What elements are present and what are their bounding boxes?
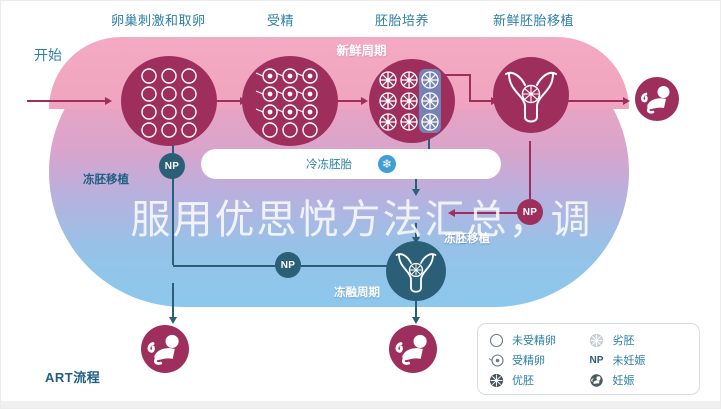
arrow-head-freeze: [412, 189, 420, 196]
start-label: 开始: [34, 45, 62, 65]
fertilized-egg-icon: [488, 352, 504, 368]
snowflake-icon: ❄: [378, 155, 396, 173]
connector-thaw-uterus-to-np: [301, 265, 393, 267]
fetus-icon: [141, 325, 189, 373]
connector-culture-elbow: [469, 74, 471, 100]
poor-embryo-icon: [589, 332, 605, 348]
arrow-head-2: [361, 97, 368, 105]
connector-culture-to-transfer: [469, 100, 493, 102]
legend-item-poor-embryo: 劣胚: [589, 332, 690, 348]
node-thaw-cycle-transfer[interactable]: [386, 241, 446, 301]
start-arrow-head: [105, 97, 112, 105]
arrow-head-baby-1: [169, 317, 177, 324]
np-badge-right[interactable]: NP: [517, 199, 543, 225]
uterus-icon: [386, 241, 446, 301]
fetus-icon: [389, 325, 437, 373]
connector-oocyte-to-fertilization: [216, 100, 242, 102]
legend-item-unfertilized-egg: 未受精卵: [488, 332, 589, 348]
node-embryo-culture[interactable]: [369, 59, 455, 143]
connector-fertilization-to-culture: [337, 100, 363, 102]
embryo-grid-icon: [369, 59, 455, 143]
art-process-diagram: 卵巢刺激和取卵 受精 胚胎培养 新鲜胚胎移植 新鲜周期 开始: [0, 0, 721, 409]
np-text-icon: NP: [589, 352, 605, 368]
legend-item-not-pregnant: NP 未妊娠: [589, 352, 690, 368]
frozen-embryo-bar[interactable]: 冷冻胚胎 ❄: [201, 149, 501, 179]
uterus-icon: [493, 57, 569, 133]
connector-np-left: [173, 265, 287, 267]
connector-left-to-baby: [172, 283, 174, 321]
oocyte-grid-icon: [121, 56, 217, 146]
baby-icon-bottom-center[interactable]: [389, 325, 437, 373]
legend-label: 未妊娠: [613, 352, 646, 368]
arrow-head-4: [623, 97, 630, 105]
legend-label: 受精卵: [512, 352, 545, 368]
legend-label: 优胚: [512, 372, 534, 388]
stage-label-fresh-transfer: 新鲜胚胎移植: [493, 10, 574, 29]
node-fresh-embryo-transfer[interactable]: [493, 57, 569, 133]
legend-label: 妊娠: [613, 372, 635, 388]
label-thaw-cycle: 冻融周期: [334, 284, 380, 300]
node-oocyte-retrieval[interactable]: [121, 56, 217, 146]
good-embryo-icon: [488, 372, 504, 388]
label-frozen-transfer-left: 冻胚移植: [83, 171, 129, 187]
connector-transfer-to-np: [529, 141, 531, 203]
np-badge-left[interactable]: NP: [159, 153, 185, 179]
fertilized-egg-grid-icon: [242, 56, 338, 146]
np-badge-bottom[interactable]: NP: [275, 252, 301, 278]
connector-np-red-line: [453, 212, 521, 214]
connector-np-up: [172, 177, 174, 265]
legend-box: 未受精卵 劣胚 受精卵: [477, 323, 700, 395]
label-frozen-transfer-right: 冻胚移植: [444, 230, 490, 246]
fresh-cycle-label: 新鲜周期: [1, 40, 721, 59]
baby-icon-right[interactable]: [635, 77, 679, 121]
start-arrow-line: [27, 100, 107, 102]
fetus-icon: [635, 77, 679, 121]
stage-label-fertilization: 受精: [267, 10, 294, 29]
connector-transfer-to-baby: [567, 100, 625, 102]
node-fertilization[interactable]: [242, 56, 338, 146]
stage-label-ovarian-stimulation: 卵巢刺激和取卵: [111, 10, 206, 29]
arrow-head-np-red: [448, 209, 455, 217]
baby-icon-bottom-left[interactable]: [141, 325, 189, 373]
legend-item-fertilized-egg: 受精卵: [488, 352, 589, 368]
diagram-title: ART流程: [45, 367, 100, 386]
pregnancy-icon: [589, 372, 605, 388]
unfertilized-egg-icon: [488, 332, 504, 348]
legend-item-pregnancy: 妊娠: [589, 372, 690, 388]
legend-label: 劣胚: [613, 332, 635, 348]
legend-item-good-embryo: 优胚: [488, 372, 589, 388]
stage-label-embryo-culture: 胚胎培养: [375, 10, 429, 29]
arrow-head-baby-2: [412, 317, 420, 324]
frozen-embryo-label: 冷冻胚胎: [306, 156, 352, 172]
bottom-strip: [1, 401, 721, 409]
legend-label: 未受精卵: [512, 332, 556, 348]
